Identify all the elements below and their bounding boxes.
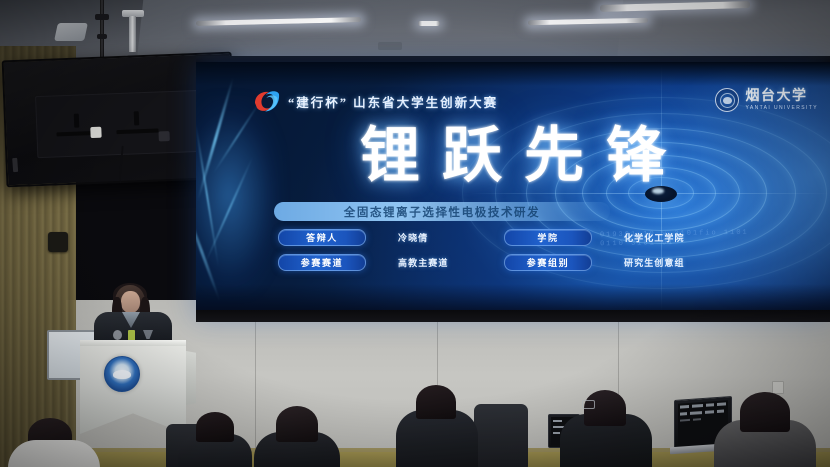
info-label-track: 参赛赛道 bbox=[278, 254, 366, 271]
yantai-university-seal-icon bbox=[715, 88, 739, 112]
ceiling-vent bbox=[54, 23, 88, 41]
university-name-en: YANTAI UNIVERSITY bbox=[745, 106, 818, 111]
info-value-group: 研究生创意组 bbox=[624, 256, 748, 269]
jianhang-cup-swirl-logo bbox=[254, 90, 281, 113]
info-value-presenter: 冷晓倩 bbox=[398, 231, 504, 244]
slide-header: “建行杯” 山东省大学生创新大赛 bbox=[254, 86, 784, 116]
info-label-group: 参赛组别 bbox=[504, 254, 592, 271]
ceiling-fixture-box bbox=[378, 42, 402, 50]
audience-person-head bbox=[416, 385, 456, 419]
university-emblem bbox=[104, 356, 140, 392]
ceiling-cable-pole bbox=[100, 0, 104, 58]
cable-clamp bbox=[97, 34, 107, 39]
cable-clamp bbox=[95, 14, 109, 20]
slide-top-shade bbox=[196, 62, 830, 86]
info-label-text: 参赛赛道 bbox=[301, 256, 343, 269]
audience-person-head bbox=[276, 406, 318, 442]
info-value-track: 高教主赛道 bbox=[398, 256, 504, 269]
tv-mount-bracket bbox=[134, 111, 140, 125]
slide-subtitle-text: 全固态锂离子选择性电极技术研发 bbox=[344, 204, 541, 220]
wall-panel-seam bbox=[255, 300, 256, 467]
audience-person bbox=[8, 440, 100, 467]
chair bbox=[474, 404, 528, 467]
photo-scene: 019301 10 v 3101fio 1101 0110 3101 01 “建… bbox=[0, 0, 830, 467]
tv-back-recess bbox=[35, 90, 199, 158]
tv-cable-clip bbox=[90, 127, 101, 138]
presenter-face bbox=[121, 291, 140, 313]
jacket-graphic bbox=[113, 330, 122, 340]
wall-socket bbox=[772, 381, 784, 394]
info-label-college: 学院 bbox=[504, 229, 592, 246]
contest-name: “建行杯” 山东省大学生创新大赛 bbox=[288, 92, 498, 111]
tv-connector bbox=[158, 131, 169, 141]
ceiling-light-strip bbox=[418, 21, 440, 26]
info-label-text: 答辩人 bbox=[306, 231, 338, 244]
university-name-cn: 烟台大学 bbox=[745, 90, 818, 104]
judge-person-head bbox=[740, 392, 790, 432]
wall-speaker bbox=[48, 232, 68, 252]
info-label-text: 参赛组别 bbox=[527, 256, 569, 269]
eyeglasses bbox=[582, 400, 595, 409]
podium-top-edge bbox=[80, 340, 186, 346]
slide-subtitle-pill: 全固态锂离子选择性电极技术研发 bbox=[274, 202, 610, 221]
ripple-highlight bbox=[652, 188, 664, 194]
tv-mount-bracket bbox=[74, 114, 80, 128]
ceiling-mount-rod bbox=[129, 16, 136, 52]
info-value-college: 化学化工学院 bbox=[624, 231, 748, 244]
slide-title: 锂跃先锋 bbox=[196, 122, 830, 190]
info-label-presenter: 答辩人 bbox=[278, 229, 366, 246]
slide-info-grid: 答辩人 冷晓倩 学院 化学化工学院 参赛赛道 高教主赛道 参赛组别 研究生创意组 bbox=[278, 229, 748, 271]
university-name-block: 烟台大学 YANTAI UNIVERSITY bbox=[745, 90, 818, 111]
audience-person-head bbox=[196, 412, 234, 442]
led-presentation-screen: 019301 10 v 3101fio 1101 0110 3101 01 “建… bbox=[196, 62, 830, 318]
tv-side-port bbox=[12, 158, 18, 172]
university-branding: 烟台大学 YANTAI UNIVERSITY bbox=[715, 88, 818, 112]
info-label-text: 学院 bbox=[537, 231, 558, 244]
screen-bezel-bottom bbox=[196, 310, 830, 322]
